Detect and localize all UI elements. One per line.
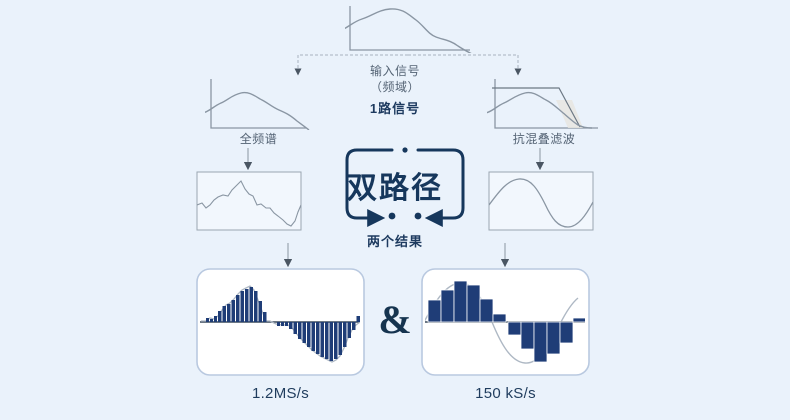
diagram-canvas: 输入信号 （频域） 1路信号 全频谱 抗混叠滤波 双路径 两个结果 & 1.2M… (0, 0, 790, 420)
path-top-notch (402, 147, 407, 152)
path-dot-1 (389, 213, 396, 220)
input-signal-label-line2: （频域） (0, 78, 790, 95)
dual-path-caption: 两个结果 (0, 231, 790, 250)
input-signal-label-line1: 输入信号 (0, 62, 790, 79)
full-spectrum-label: 全频谱 (201, 130, 316, 147)
high-rate-label: 1.2MS/s (197, 385, 364, 402)
anti-alias-filter-label: 抗混叠滤波 (483, 130, 605, 147)
ampersand-symbol: & (375, 300, 415, 340)
input-signal-caption: 1路信号 (0, 98, 790, 117)
input-signal-chart (336, 6, 474, 55)
low-rate-panel (422, 269, 589, 375)
low-rate-label: 150 kS/s (422, 385, 589, 402)
dual-path-title: 双路径 (0, 163, 790, 207)
path-dot-2 (415, 213, 422, 220)
high-rate-panel (197, 269, 364, 375)
